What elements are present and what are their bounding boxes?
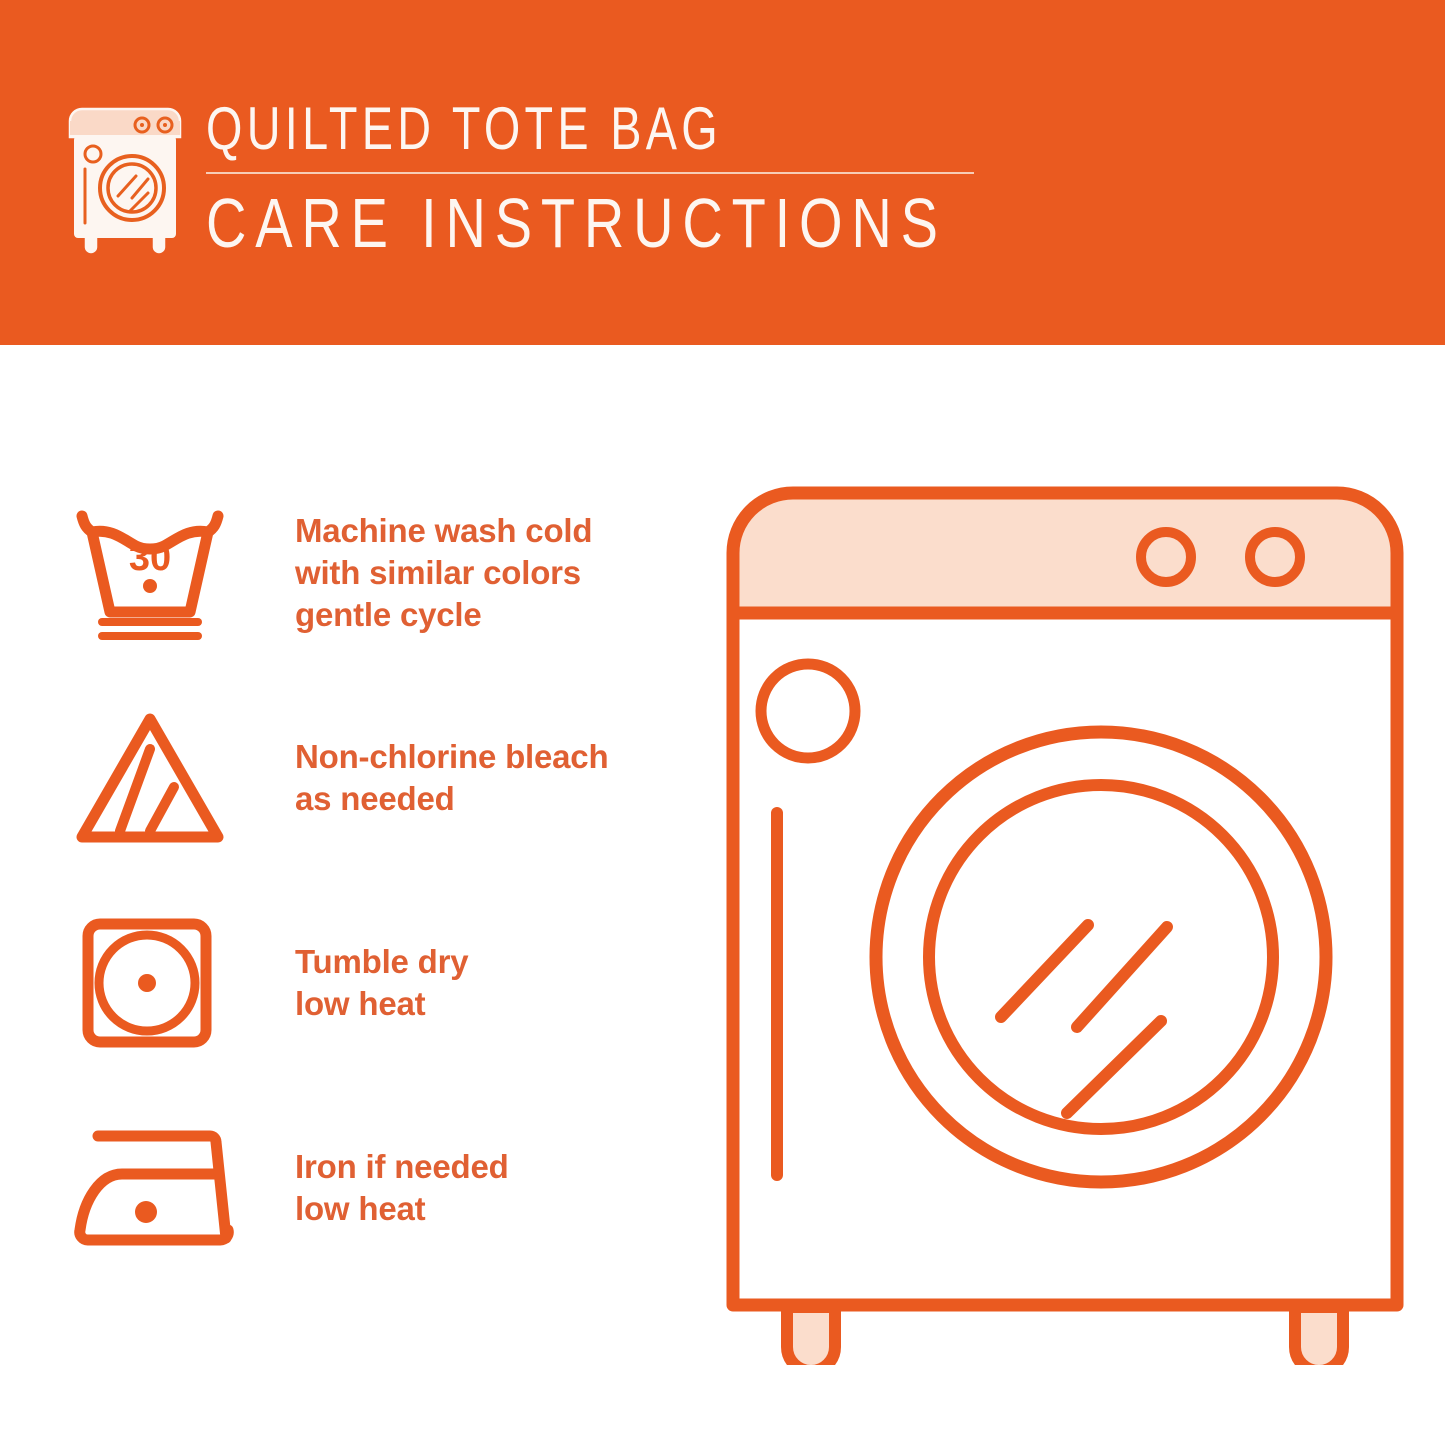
care-line: Tumble dry	[295, 941, 468, 983]
care-line: low heat	[295, 1188, 509, 1230]
care-text-machine-wash: Machine wash cold with similar colors ge…	[245, 510, 592, 636]
care-line: with similar colors	[295, 552, 592, 594]
care-row-bleach: Non-chlorine bleach as needed	[70, 675, 690, 880]
cabinet-body	[733, 613, 1397, 1305]
tumble-dry-low-icon	[70, 908, 245, 1058]
washing-machine-illustration	[715, 465, 1415, 1365]
product-title: QUILTED TOTE BAG	[206, 95, 722, 163]
care-instructions-page: QUILTED TOTE BAG CARE INSTRUCTIONS 30	[0, 0, 1445, 1445]
wash-temperature-label: 30	[129, 537, 171, 579]
title-divider	[206, 172, 974, 174]
care-row-machine-wash: 30 Machine wash cold with similar colors…	[70, 470, 690, 675]
care-line: Machine wash cold	[295, 510, 592, 552]
care-instruction-list: 30 Machine wash cold with similar colors…	[70, 470, 690, 1290]
leg-left	[787, 1307, 835, 1365]
care-line: Non-chlorine bleach	[295, 736, 608, 778]
care-text-iron: Iron if needed low heat	[245, 1146, 509, 1230]
header-banner: QUILTED TOTE BAG CARE INSTRUCTIONS	[0, 0, 1445, 345]
care-text-bleach: Non-chlorine bleach as needed	[245, 736, 608, 820]
care-row-iron: Iron if needed low heat	[70, 1085, 690, 1290]
wash-tub-30-icon: 30	[70, 498, 245, 648]
header-content: QUILTED TOTE BAG CARE INSTRUCTIONS	[66, 95, 1132, 263]
header-title-block: QUILTED TOTE BAG CARE INSTRUCTIONS	[206, 95, 1132, 263]
leg-right	[1295, 1307, 1343, 1365]
care-line: as needed	[295, 778, 608, 820]
iron-low-heat-icon	[70, 1118, 245, 1258]
care-row-tumble-dry: Tumble dry low heat	[70, 880, 690, 1085]
washing-machine-icon	[66, 103, 184, 255]
care-line: low heat	[295, 983, 468, 1025]
care-line: Iron if needed	[295, 1146, 509, 1188]
page-title: CARE INSTRUCTIONS	[206, 183, 947, 263]
care-text-tumble-dry: Tumble dry low heat	[245, 941, 468, 1025]
care-line: gentle cycle	[295, 594, 592, 636]
non-chlorine-bleach-triangle-icon	[70, 703, 245, 853]
